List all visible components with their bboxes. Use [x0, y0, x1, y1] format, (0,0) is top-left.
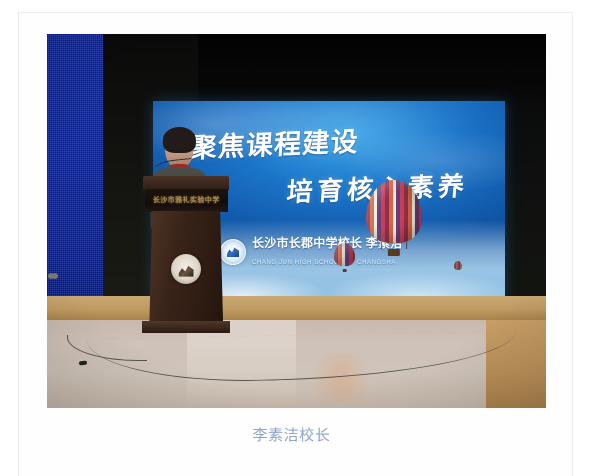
school-seal-icon [171, 254, 201, 284]
balloon-envelope [454, 261, 462, 270]
balloon-basket [342, 269, 347, 272]
page-root: 聚焦课程建设 培育核心素养 长沙市长郡中学校长 李素洁 CHANG JUN HI… [0, 0, 600, 476]
hot-air-balloon-small [334, 243, 355, 272]
slide-headline-line-1: 聚焦课程建设 [189, 120, 361, 165]
photo-caption: 李素洁校长 [19, 425, 564, 447]
photo-image: 聚焦课程建设 培育核心素养 长沙市长郡中学校长 李素洁 CHANG JUN HI… [47, 34, 546, 408]
balloon-envelope [334, 243, 355, 267]
lectern-podium: 长沙市雅礼实验中学 [148, 176, 225, 333]
balloon-basket [388, 249, 400, 257]
led-wall-foot-right [52, 273, 58, 279]
stage-apron [47, 296, 546, 320]
blue-led-wall [47, 34, 103, 331]
hot-air-balloon-large [366, 180, 422, 256]
podium-body [149, 211, 223, 324]
article-photo-figure[interactable]: 聚焦课程建设 培育核心素养 长沙市长郡中学校长 李素洁 CHANG JUN HI… [47, 34, 546, 408]
balloon-envelope [366, 180, 422, 242]
podium-base [142, 321, 230, 334]
podium-nameplate: 长沙市雅礼实验中学 [145, 189, 228, 213]
hot-air-balloon-distant [454, 261, 462, 272]
glasses-icon [167, 150, 191, 155]
podium-nameplate-text: 长沙市雅礼实验中学 [153, 195, 220, 205]
slide-organization-name-en: CHANG JUN HIGH SCHOOL OF CHANGSHA [252, 260, 396, 266]
slide-organization-row: 长沙市长郡中学校长 李素洁 CHANG JUN HIGH SCHOOL OF C… [220, 235, 505, 269]
article-content-card: 聚焦课程建设 培育核心素养 长沙市长郡中学校长 李素洁 CHANG JUN HI… [18, 12, 573, 476]
